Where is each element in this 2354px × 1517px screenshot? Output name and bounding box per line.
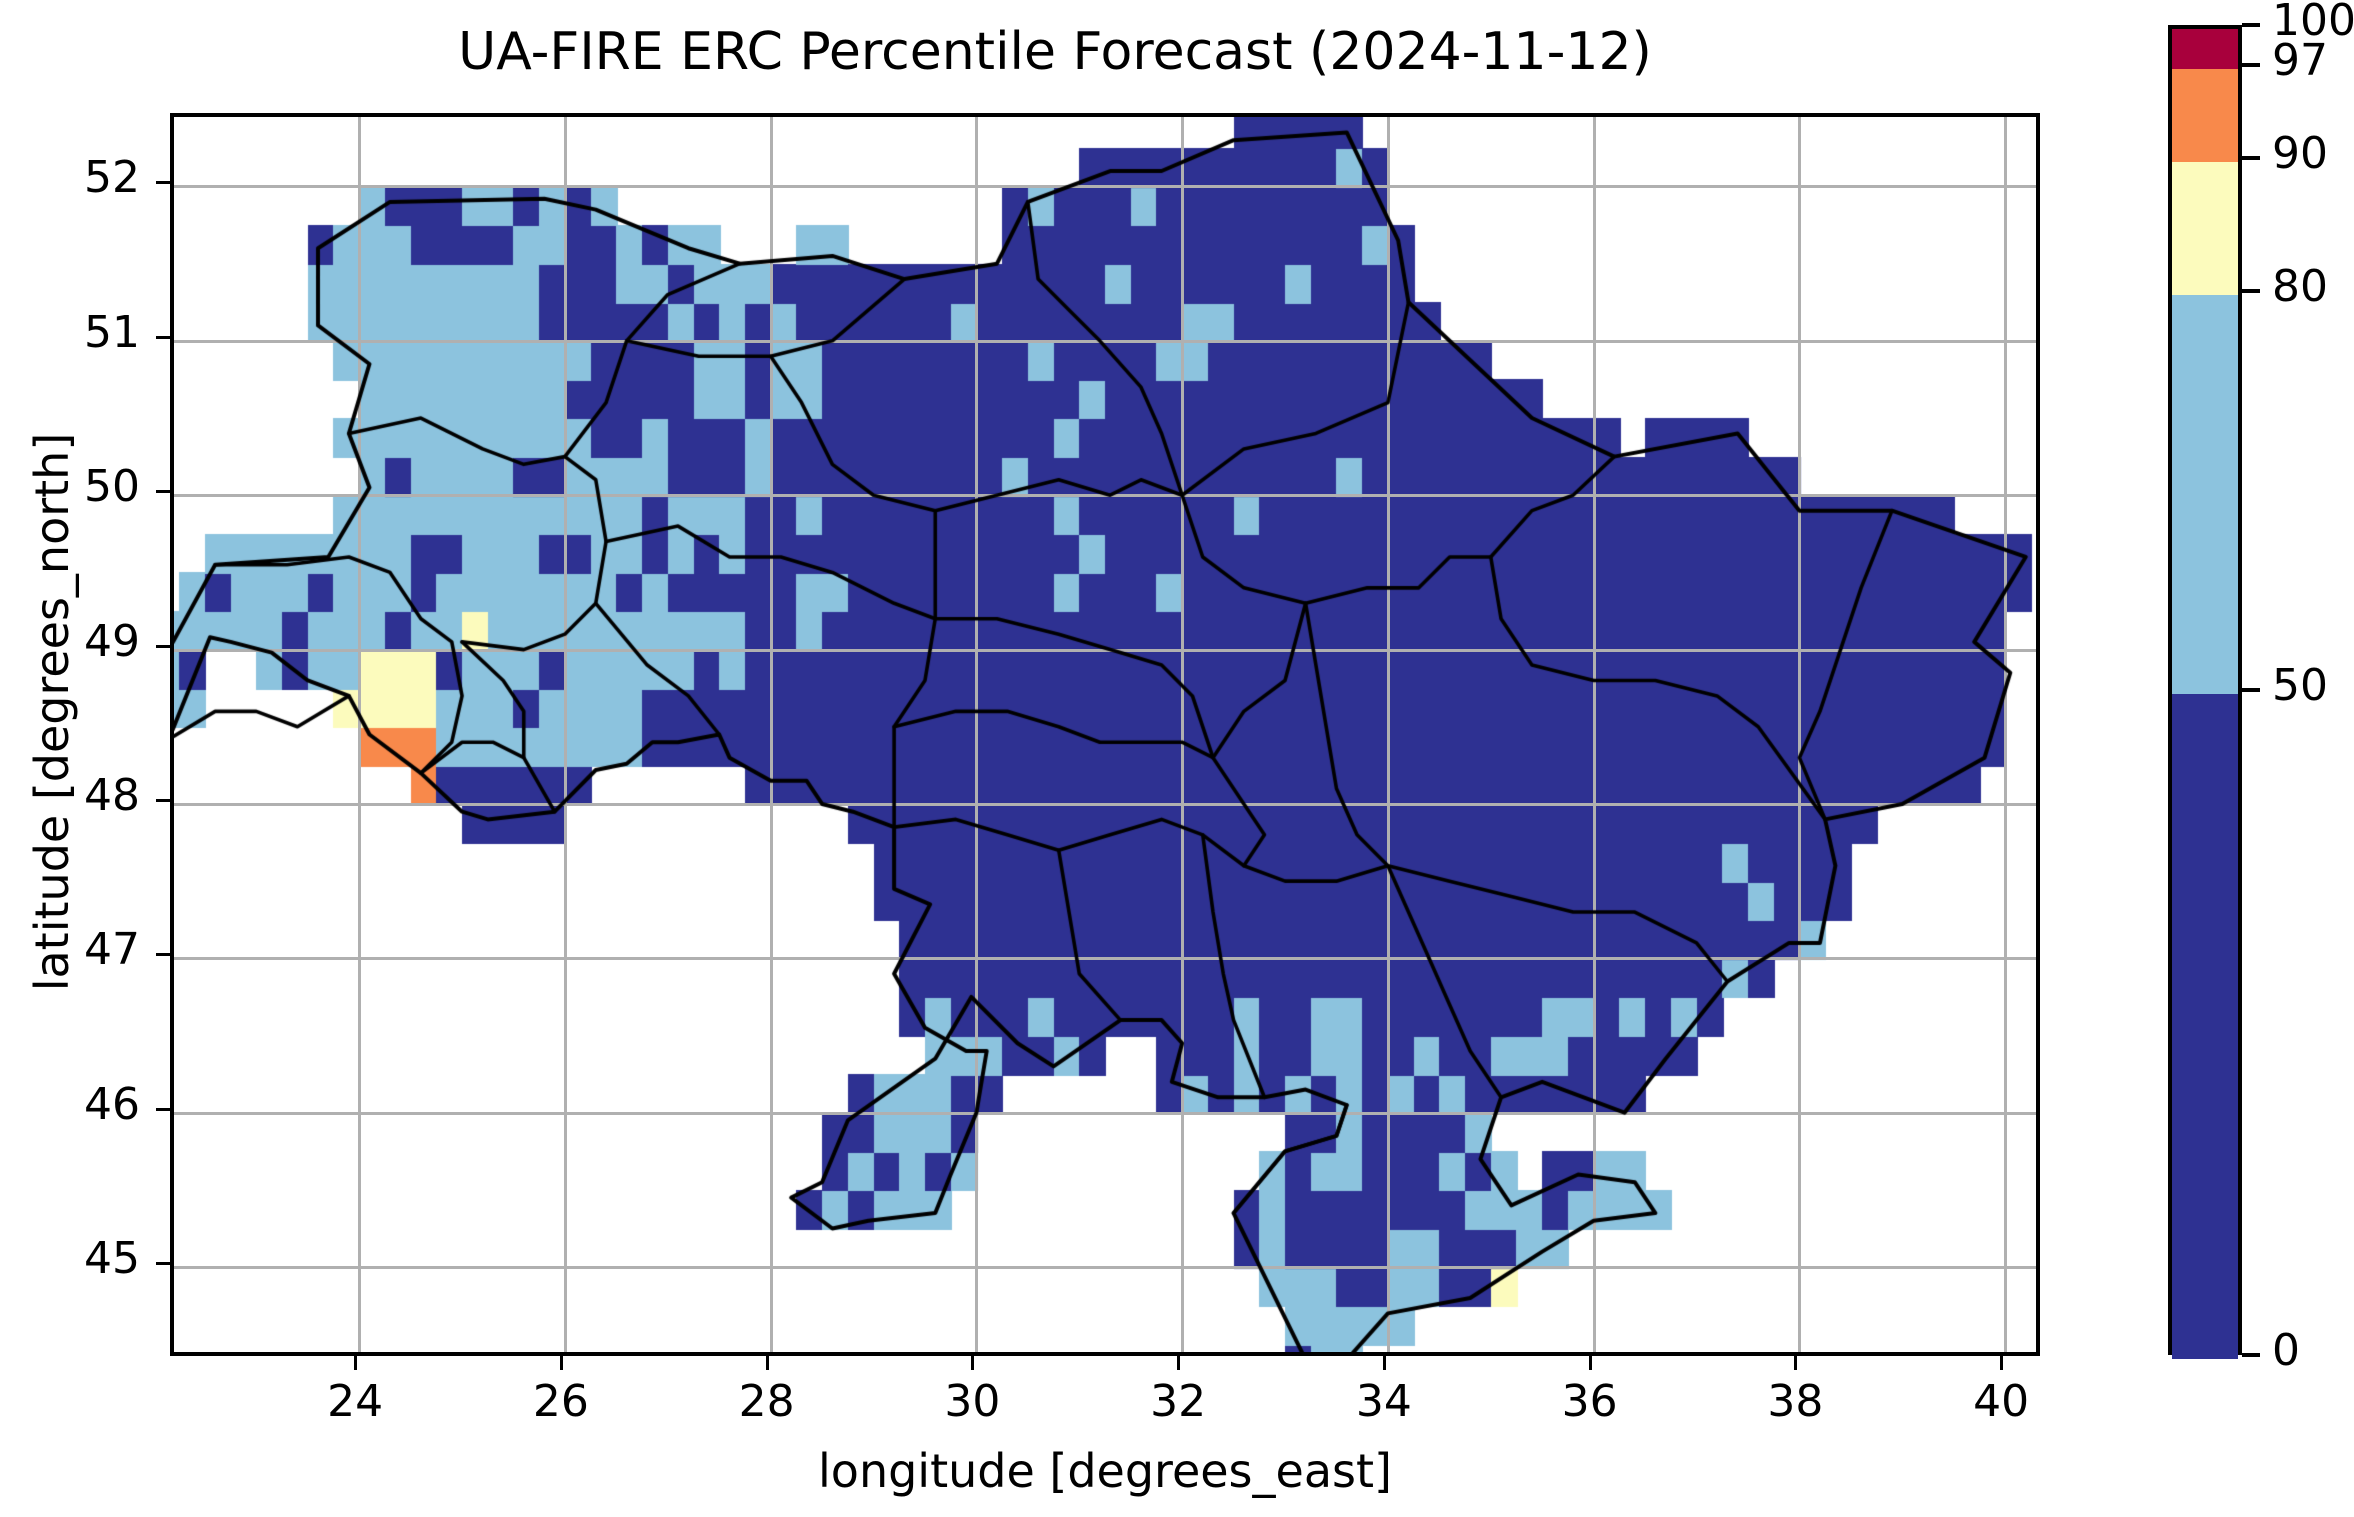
y-axis-title: latitude [degrees_north]	[25, 342, 79, 1082]
y-tick-label: 46	[0, 1079, 140, 1130]
x-tick-label: 30	[912, 1376, 1032, 1427]
x-tick	[766, 1356, 769, 1370]
colorbar-segment	[2172, 694, 2238, 1359]
oblast-boundaries	[174, 117, 2036, 1352]
colorbar-tick	[2242, 688, 2260, 692]
x-tick	[560, 1356, 563, 1370]
y-tick	[156, 1262, 170, 1265]
x-tick-label: 26	[501, 1376, 621, 1427]
x-tick	[1177, 1356, 1180, 1370]
y-tick	[156, 181, 170, 184]
y-tick	[156, 799, 170, 802]
x-tick-label: 34	[1324, 1376, 1444, 1427]
y-tick	[156, 953, 170, 956]
colorbar-tick-label: 97	[2272, 35, 2328, 86]
colorbar-tick	[2242, 23, 2260, 27]
y-tick	[156, 645, 170, 648]
x-tick-label: 32	[1118, 1376, 1238, 1427]
colorbar-segment	[2172, 29, 2238, 69]
x-tick-label: 38	[1735, 1376, 1855, 1427]
x-tick	[354, 1356, 357, 1370]
y-tick	[156, 336, 170, 339]
x-tick	[1589, 1356, 1592, 1370]
colorbar-tick	[2242, 156, 2260, 160]
x-tick-label: 24	[295, 1376, 415, 1427]
y-tick	[156, 490, 170, 493]
x-tick	[1794, 1356, 1797, 1370]
y-tick	[156, 1108, 170, 1111]
colorbar-tick-label: 0	[2272, 1325, 2300, 1376]
chart-title: UA-FIRE ERC Percentile Forecast (2024-11…	[0, 22, 2110, 82]
x-tick	[971, 1356, 974, 1370]
colorbar-segment	[2172, 69, 2238, 162]
x-tick-label: 36	[1530, 1376, 1650, 1427]
colorbar-tick	[2242, 1353, 2260, 1357]
colorbar-segment	[2172, 295, 2238, 694]
colorbar-tick-label: 80	[2272, 261, 2328, 312]
x-tick	[1383, 1356, 1386, 1370]
colorbar-tick	[2242, 63, 2260, 67]
x-tick	[2000, 1356, 2003, 1370]
colorbar-tick-label: 90	[2272, 128, 2328, 179]
y-tick-label: 52	[0, 152, 140, 203]
colorbar-segment	[2172, 162, 2238, 295]
x-tick-label: 28	[707, 1376, 827, 1427]
x-axis-title: longitude [degrees_east]	[170, 1444, 2040, 1498]
map-plot-area[interactable]	[170, 113, 2040, 1356]
colorbar-tick-label: 50	[2272, 660, 2328, 711]
y-tick-label: 45	[0, 1233, 140, 1284]
x-tick-label: 40	[1941, 1376, 2061, 1427]
colorbar-tick	[2242, 289, 2260, 293]
colorbar[interactable]	[2168, 25, 2242, 1355]
